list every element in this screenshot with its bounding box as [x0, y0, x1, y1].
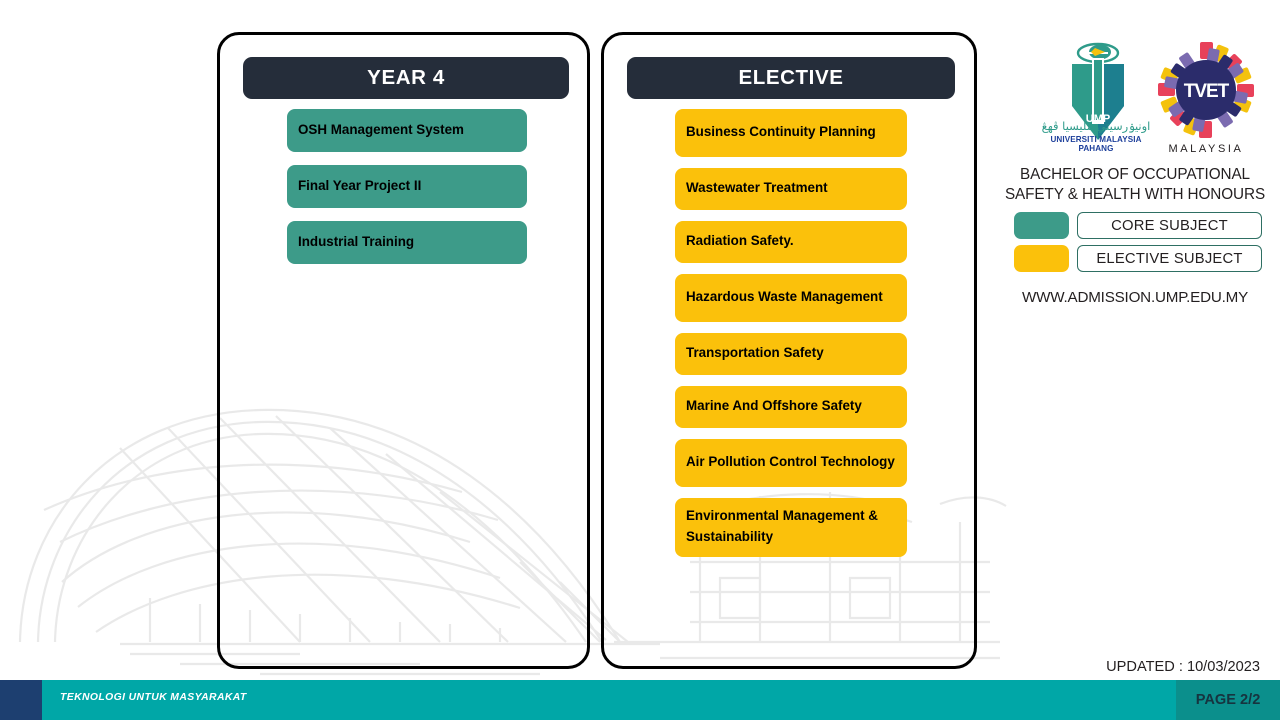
- subject-item[interactable]: Final Year Project II: [287, 165, 527, 208]
- legend: CORE SUBJECT ELECTIVE SUBJECT: [1014, 212, 1262, 278]
- subject-item[interactable]: Environmental Management & Sustainabilit…: [675, 498, 907, 557]
- ump-name-text: UNIVERSITI MALAYSIA PAHANG: [1040, 135, 1152, 153]
- subject-item[interactable]: Radiation Safety.: [675, 221, 907, 263]
- column-header-elective: ELECTIVE: [627, 57, 955, 99]
- tvet-mark-text: TVET: [1184, 81, 1230, 102]
- footer-bar: TEKNOLOGI UNTUK MASYARAKAT PAGE 2/2: [0, 680, 1280, 720]
- subject-list-year4: OSH Management System Final Year Project…: [287, 109, 527, 277]
- ump-jawi-text: اونيۏرسيتي مليسيا ڤهڠ: [1040, 120, 1152, 134]
- website-url[interactable]: WWW.ADMISSION.UMP.EDU.MY: [990, 289, 1280, 306]
- footer-accent-block: [0, 680, 42, 720]
- column-card-year4: YEAR 4 OSH Management System Final Year …: [217, 32, 590, 669]
- subject-item[interactable]: Wastewater Treatment: [675, 168, 907, 210]
- footer-tagline: TEKNOLOGI UNTUK MASYARAKAT: [60, 692, 247, 703]
- legend-row-core: CORE SUBJECT: [1014, 212, 1262, 239]
- legend-swatch-core: [1014, 212, 1069, 239]
- tvet-sunburst-icon: TVET MALAYSIA: [1152, 40, 1260, 158]
- column-header-year4: YEAR 4: [243, 57, 569, 99]
- legend-label-core: CORE SUBJECT: [1077, 212, 1262, 239]
- subject-item[interactable]: OSH Management System: [287, 109, 527, 152]
- page-indicator: PAGE 2/2: [1176, 680, 1280, 720]
- subject-item[interactable]: Business Continuity Planning: [675, 109, 907, 157]
- program-title: BACHELOR OF OCCUPATIONAL SAFETY & HEALTH…: [990, 165, 1280, 205]
- column-card-elective: ELECTIVE Business Continuity Planning Wa…: [601, 32, 977, 669]
- legend-swatch-elective: [1014, 245, 1069, 272]
- tvet-country-text: MALAYSIA: [1168, 143, 1243, 155]
- subject-item[interactable]: Hazardous Waste Management: [675, 274, 907, 322]
- subject-item[interactable]: Marine And Offshore Safety: [675, 386, 907, 428]
- updated-date: UPDATED : 10/03/2023: [980, 659, 1270, 675]
- subject-item[interactable]: Industrial Training: [287, 221, 527, 264]
- legend-label-elective: ELECTIVE SUBJECT: [1077, 245, 1262, 272]
- logo-group: UMP: [1040, 40, 1260, 160]
- subject-list-elective: Business Continuity Planning Wastewater …: [675, 109, 907, 568]
- legend-row-elective: ELECTIVE SUBJECT: [1014, 245, 1262, 272]
- subject-item[interactable]: Air Pollution Control Technology: [675, 439, 907, 487]
- subject-item[interactable]: Transportation Safety: [675, 333, 907, 375]
